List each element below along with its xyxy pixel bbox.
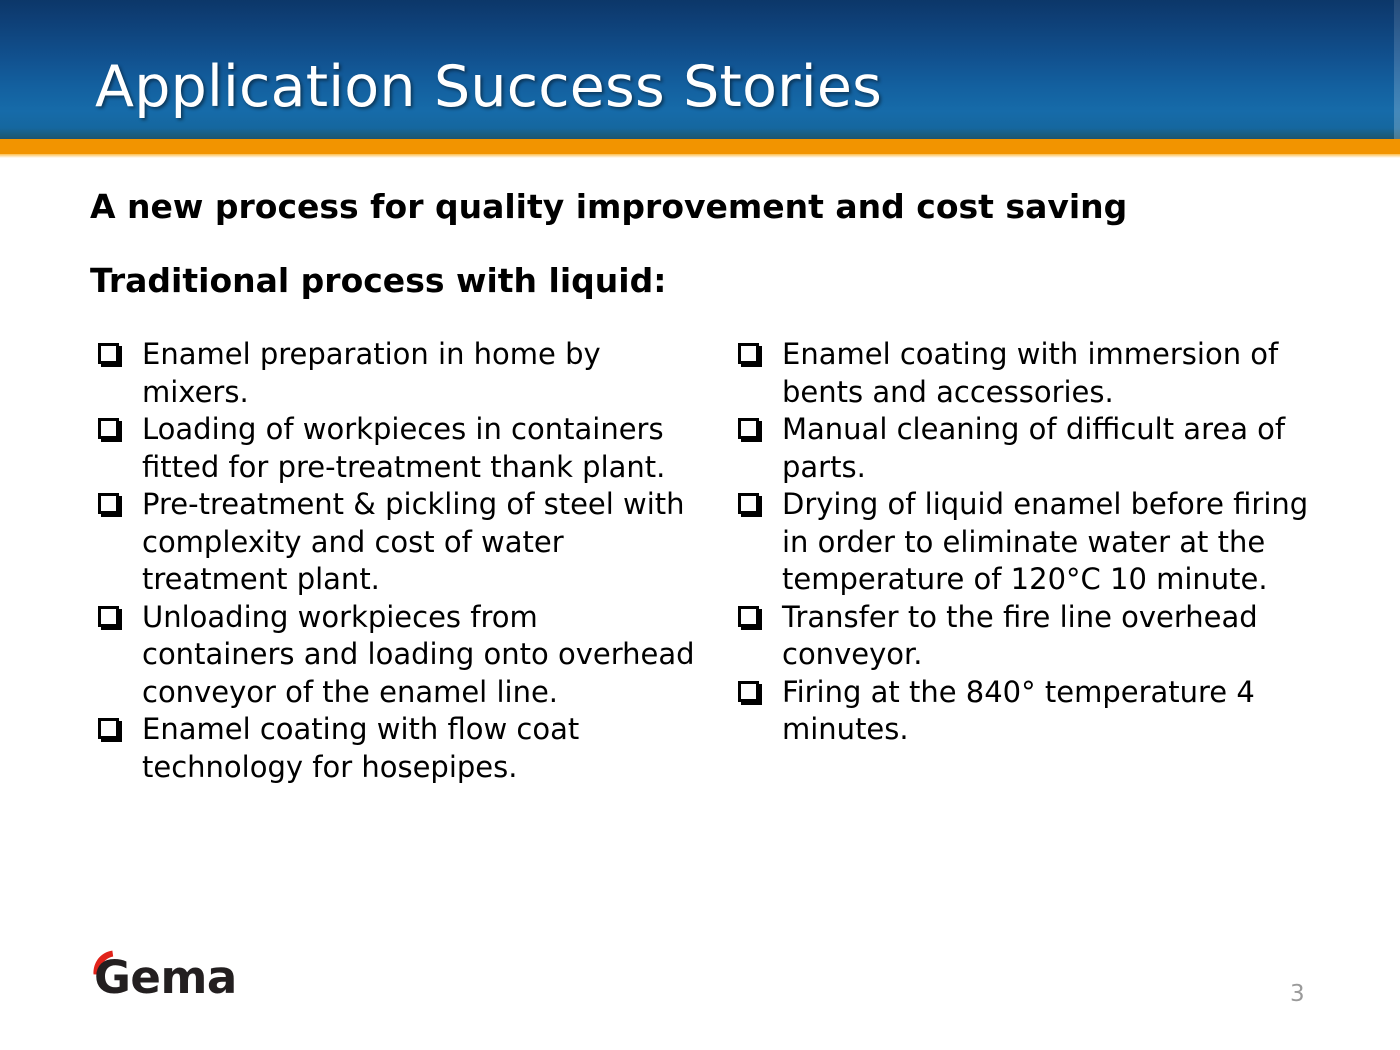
- header-right-edge-highlight: [1394, 0, 1400, 139]
- list-item-label: Drying of liquid enamel before firing in…: [782, 486, 1336, 599]
- list-item-label: Manual cleaning of difficult area of par…: [782, 411, 1336, 486]
- list-item-label: Enamel coating with immersion of bents a…: [782, 336, 1336, 411]
- page-number: 3: [1290, 980, 1330, 1008]
- list-item: Enamel coating with flow coat technology…: [96, 711, 696, 786]
- list-item-label: Enamel preparation in home by mixers.: [142, 336, 696, 411]
- list-item-label: Unloading workpieces from containers and…: [142, 599, 696, 712]
- header-accent-bar: [0, 139, 1400, 154]
- hollow-square-bullet-icon: [738, 418, 759, 439]
- list-item: Firing at the 840° temperature 4 minutes…: [736, 674, 1336, 749]
- list-item-label: Enamel coating with flow coat technology…: [142, 711, 696, 786]
- list-item: Enamel coating with immersion of bents a…: [736, 336, 1336, 411]
- list-item: Drying of liquid enamel before firing in…: [736, 486, 1336, 599]
- list-item: Manual cleaning of difficult area of par…: [736, 411, 1336, 486]
- list-item: Pre-treatment & pickling of steel with c…: [96, 486, 696, 599]
- hollow-square-bullet-icon: [738, 606, 759, 627]
- left-bullet-list: Enamel preparation in home by mixers. Lo…: [96, 336, 696, 786]
- list-item: Loading of workpieces in containers fitt…: [96, 411, 696, 486]
- hollow-square-bullet-icon: [738, 493, 759, 514]
- hollow-square-bullet-icon: [98, 343, 119, 364]
- list-item: Enamel preparation in home by mixers.: [96, 336, 696, 411]
- hollow-square-bullet-icon: [98, 418, 119, 439]
- hollow-square-bullet-icon: [98, 718, 119, 739]
- hollow-square-bullet-icon: [98, 606, 119, 627]
- list-item-label: Pre-treatment & pickling of steel with c…: [142, 486, 696, 599]
- hollow-square-bullet-icon: [738, 343, 759, 364]
- right-bullet-column: Enamel coating with immersion of bents a…: [736, 336, 1336, 749]
- left-bullet-column: Enamel preparation in home by mixers. Lo…: [96, 336, 696, 786]
- logo-wordmark: Gema: [94, 953, 237, 1003]
- right-bullet-list: Enamel coating with immersion of bents a…: [736, 336, 1336, 749]
- list-item-label: Loading of workpieces in containers fitt…: [142, 411, 696, 486]
- list-item-label: Firing at the 840° temperature 4 minutes…: [782, 674, 1336, 749]
- list-item: Unloading workpieces from containers and…: [96, 599, 696, 712]
- page-title: Application Success Stories: [95, 52, 882, 122]
- content-subheadline: Traditional process with liquid:: [90, 261, 666, 301]
- gema-logo: Gema: [88, 945, 218, 1005]
- slide-header-banner: Application Success Stories: [0, 0, 1400, 139]
- list-item: Transfer to the fire line overhead conve…: [736, 599, 1336, 674]
- slide-content-area: A new process for quality improvement an…: [0, 158, 1400, 1050]
- list-item-label: Transfer to the fire line overhead conve…: [782, 599, 1336, 674]
- hollow-square-bullet-icon: [98, 493, 119, 514]
- hollow-square-bullet-icon: [738, 681, 759, 702]
- content-headline: A new process for quality improvement an…: [90, 187, 1127, 227]
